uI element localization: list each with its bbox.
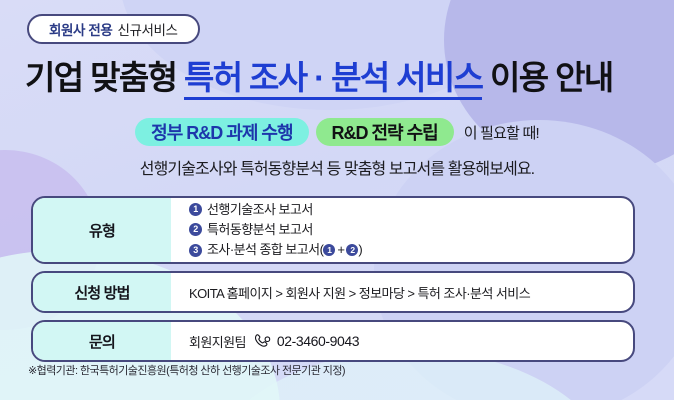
headline-part-1: 기업 맞춤형: [25, 59, 184, 96]
info-table: 유형 1 선행기술조사 보고서 2 특허동향분석 보고서 3 조사·분석 종합 …: [31, 196, 635, 369]
inline-number-badge-1: 1: [323, 244, 335, 256]
footnote-partner-agency: ※협력기관: 한국특허기술진흥원(특허청 산하 선행기술조사 전문기관 지정): [28, 362, 345, 378]
table-row-contact: 문의 회원지원팀 02-3460-9043: [31, 320, 635, 362]
lead-sentence: 선행기술조사와 특허동향분석 등 맞춤형 보고서를 활용해보세요.: [0, 155, 674, 179]
list-item: 2 특허동향분석 보고서: [189, 220, 633, 240]
list-number-badge: 3: [189, 244, 202, 257]
row-value-type: 1 선행기술조사 보고서 2 특허동향분석 보고서 3 조사·분석 종합 보고서…: [171, 198, 633, 262]
headline-highlight: 특허 조사 · 분석 서비스: [184, 59, 483, 100]
contact-phone-number[interactable]: 02-3460-9043: [277, 333, 359, 349]
phone-icon: [254, 334, 271, 348]
promo-banner: 회원사 전용 신규서비스 기업 맞춤형 특허 조사 · 분석 서비스 이용 안내…: [0, 0, 674, 400]
contact-team-name: 회원지원팀: [189, 332, 246, 351]
contact-line: 회원지원팀 02-3460-9043: [189, 332, 633, 351]
list-number-badge: 2: [189, 223, 202, 236]
row-value-contact: 회원지원팀 02-3460-9043: [171, 322, 633, 360]
table-row-application: 신청 방법 KOITA 홈페이지 > 회원사 지원 > 정보마당 > 특허 조사…: [31, 271, 635, 313]
list-item-label: 조사·분석 종합 보고서(1+2): [207, 240, 362, 261]
headline-part-2: 이용 안내: [482, 59, 612, 96]
closing-paren: ): [358, 242, 362, 257]
row-value-application: KOITA 홈페이지 > 회원사 지원 > 정보마당 > 특허 조사·분석 서비…: [171, 273, 633, 311]
list-item: 1 선행기술조사 보고서: [189, 200, 633, 220]
member-only-badge: 회원사 전용 신규서비스: [27, 14, 200, 44]
pill-government-rnd: 정부 R&D 과제 수행: [135, 118, 308, 146]
row-label-contact: 문의: [33, 322, 171, 360]
badge-normal-label: 신규서비스: [117, 19, 177, 39]
table-row-type: 유형 1 선행기술조사 보고서 2 특허동향분석 보고서 3 조사·분석 종합 …: [31, 196, 635, 264]
list-number-badge: 1: [189, 203, 202, 216]
list-item-label: 특허동향분석 보고서: [207, 220, 313, 240]
row-label-type: 유형: [33, 198, 171, 262]
list-item-text: 조사·분석 종합 보고서(: [207, 242, 323, 257]
inline-number-badge-2: 2: [346, 244, 358, 256]
list-item: 3 조사·분석 종합 보고서(1+2): [189, 240, 633, 261]
banner-content: 회원사 전용 신규서비스 기업 맞춤형 특허 조사 · 분석 서비스 이용 안내…: [0, 0, 674, 400]
highlight-pill-row: 정부 R&D 과제 수행 R&D 전략 수립 이 필요할 때!: [0, 118, 674, 146]
row-label-application: 신청 방법: [33, 273, 171, 311]
plus-sign: +: [337, 242, 344, 257]
pill-rnd-strategy: R&D 전략 수립: [316, 118, 454, 146]
badge-strong-label: 회원사 전용: [49, 19, 112, 39]
application-path-text: KOITA 홈페이지 > 회원사 지원 > 정보마당 > 특허 조사·분석 서비…: [189, 283, 633, 302]
pill-tail-text: 이 필요할 때!: [464, 122, 539, 143]
page-title: 기업 맞춤형 특허 조사 · 분석 서비스 이용 안내: [25, 60, 655, 96]
list-item-label: 선행기술조사 보고서: [207, 200, 313, 220]
